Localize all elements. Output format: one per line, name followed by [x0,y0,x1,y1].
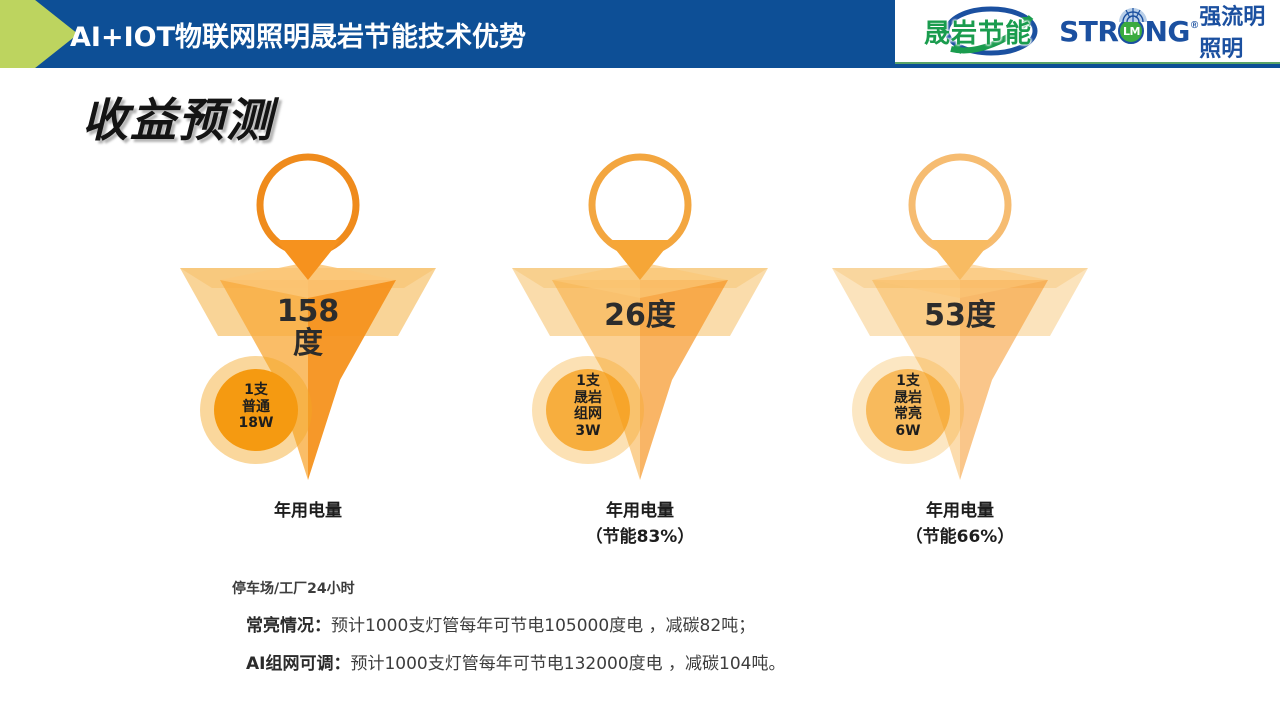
brand-lm-circle-icon: LM [1118,18,1144,44]
funnel-3-caption-line2: （节能66%） [810,524,1110,550]
funnel-2-value: 26度 [560,300,720,332]
notes-block: 停车场/工厂24小时 常亮情况：预计1000支灯管每年可节电105000度电 ，… [232,578,1132,674]
notes-row-2-key: AI组网可调： [246,654,350,674]
funnel-1-caption-line1: 年用电量 [158,498,458,524]
company-logo: 晟岩节能 STR LM NG ® 强流明照明 [895,0,1280,64]
funnel-1-value-line1: 158 [228,296,388,328]
funnel-group-2: 26度 1支 晟岩 组网 3W 年用电量 （节能83%） [490,140,790,570]
brand-lm-text: LM [1120,20,1142,42]
notes-subtitle: 停车场/工厂24小时 [232,578,1132,598]
funnel-2-caption: 年用电量 （节能83%） [490,498,790,551]
funnel-group-1: 158 度 1支 普通 18W 年用电量 [158,140,458,570]
page-title: AI+IOT物联网照明晟岩节能技术优势 [70,0,526,68]
funnel-2-caption-line1: 年用电量 [490,498,790,524]
chevron-right-icon [0,0,78,68]
brand-text-part2: NG [1144,15,1189,48]
funnel-3-caption-line1: 年用电量 [810,498,1110,524]
notes-row-1-key: 常亮情况： [246,616,331,636]
funnel-2-caption-line2: （节能83%） [490,524,790,550]
funnel-2-badge: 1支 晟岩 组网 3W [533,373,643,439]
funnel-3-value: 53度 [880,300,1040,332]
funnel-1-value: 158 度 [228,296,388,359]
brand-text-part1: STR [1059,15,1118,48]
funnel-1-value-line2: 度 [228,328,388,360]
funnel-3-badge: 1支 晟岩 常亮 6W [853,373,963,439]
funnel-3-caption: 年用电量 （节能66%） [810,498,1110,551]
registered-trademark-icon: ® [1191,20,1198,31]
logo-brand: STR LM NG ® 强流明照明 [1059,0,1280,63]
notes-row-2-text: 预计1000支灯管每年可节电132000度电 ，减碳104吨。 [350,654,785,674]
logo-mark-shengyan: 晟岩节能 [903,3,1053,59]
funnel-2-value-line1: 26度 [560,300,720,332]
notes-row-1-text: 预计1000支灯管每年可节电105000度电 ，减碳82吨； [331,616,755,636]
logo-company-name: 晟岩节能 [924,13,1032,50]
brand-chinese-name: 强流明照明 [1199,0,1280,63]
funnel-1-badge: 1支 普通 18W [201,382,311,432]
brand-wordmark: STR LM NG [1059,15,1190,48]
notes-row-ai-network: AI组网可调：预计1000支灯管每年可节电132000度电 ，减碳104吨。 [232,649,1132,674]
funnel-1-caption: 年用电量 [158,498,458,524]
funnel-group-3: 53度 1支 晟岩 常亮 6W 年用电量 （节能66%） [810,140,1110,570]
notes-row-always-on: 常亮情况：预计1000支灯管每年可节电105000度电 ，减碳82吨； [232,611,1132,636]
funnel-3-value-line1: 53度 [880,300,1040,332]
